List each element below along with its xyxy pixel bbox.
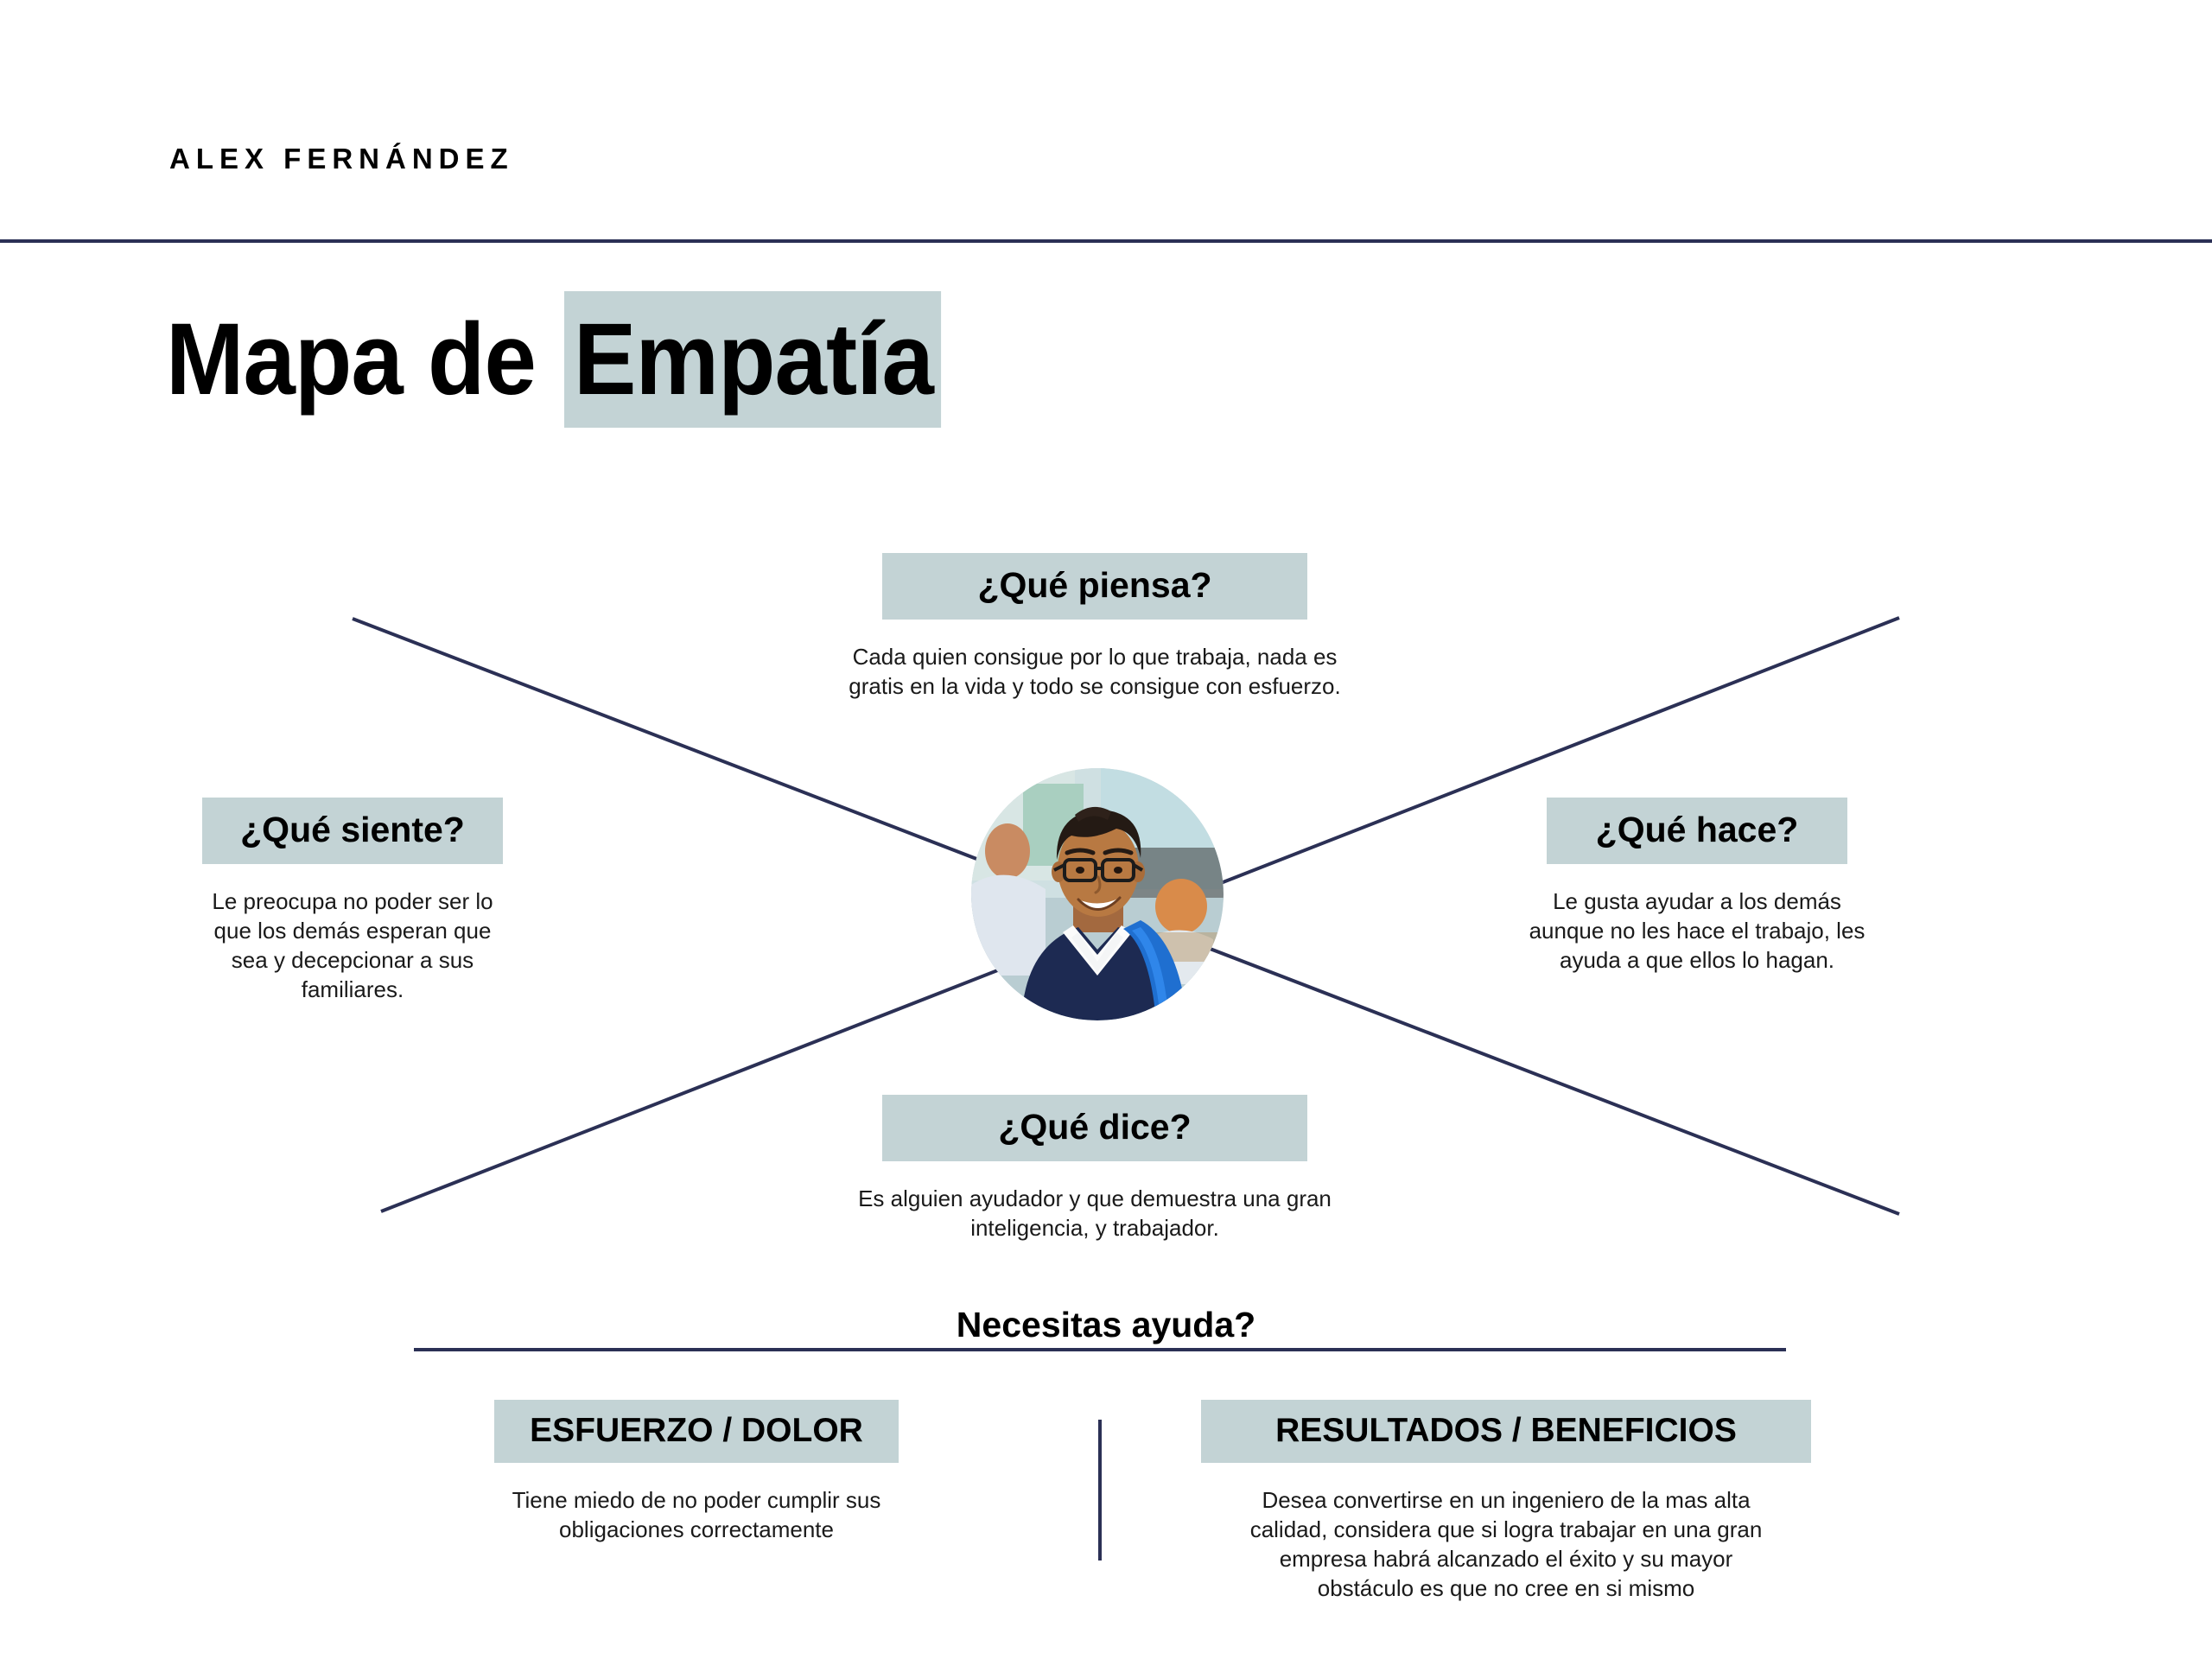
page-title-highlight: Empatía [564, 291, 941, 428]
quadrant-dice-label: ¿Qué dice? [882, 1095, 1307, 1161]
header-divider [0, 239, 2212, 243]
bottom-column-divider [1098, 1420, 1102, 1560]
quadrant-piensa: ¿Qué piensa? Cada quien consigue por lo … [882, 553, 1307, 701]
page-title: Mapa de Empatía [166, 291, 974, 428]
needs-help-heading: Necesitas ayuda? [0, 1305, 2212, 1345]
bottom-column-dolor-text: Tiene miedo de no poder cumplir sus obli… [480, 1485, 912, 1544]
page-title-plain: Mapa de [166, 291, 540, 428]
bottom-column-resultados: RESULTADOS / BENEFICIOS Desea convertirs… [1201, 1400, 1811, 1603]
bottom-column-dolor: ESFUERZO / DOLOR Tiene miedo de no poder… [494, 1400, 899, 1544]
quadrant-dice: ¿Qué dice? Es alguien ayudador y que dem… [882, 1095, 1307, 1243]
bottom-column-resultados-text: Desea convertirse en un ingeniero de la … [1230, 1485, 1783, 1603]
bottom-column-dolor-label: ESFUERZO / DOLOR [494, 1400, 899, 1463]
quadrant-siente: ¿Qué siente? Le preocupa no poder ser lo… [202, 798, 503, 1004]
quadrant-hace-text: Le gusta ayudar a los demás aunque no le… [1524, 887, 1870, 975]
quadrant-piensa-label: ¿Qué piensa? [882, 553, 1307, 620]
quadrant-siente-label: ¿Qué siente? [202, 798, 503, 864]
quadrant-piensa-text: Cada quien consigue por lo que trabaja, … [844, 642, 1345, 701]
author-name: ALEX FERNÁNDEZ [169, 143, 514, 175]
bottom-column-resultados-label: RESULTADOS / BENEFICIOS [1201, 1400, 1811, 1463]
quadrant-hace-label: ¿Qué hace? [1547, 798, 1847, 864]
persona-photo [971, 768, 1224, 1020]
quadrant-hace: ¿Qué hace? Le gusta ayudar a los demás a… [1547, 798, 1847, 975]
bottom-divider [414, 1348, 1786, 1351]
persona-photo-illustration [971, 768, 1224, 1020]
quadrant-dice-text: Es alguien ayudador y que demuestra una … [827, 1184, 1363, 1243]
quadrant-siente-text: Le preocupa no poder ser lo que los demá… [193, 887, 512, 1004]
empathy-map-canvas: ALEX FERNÁNDEZ Mapa de Empatía ¿Qué pien… [0, 0, 2212, 1659]
